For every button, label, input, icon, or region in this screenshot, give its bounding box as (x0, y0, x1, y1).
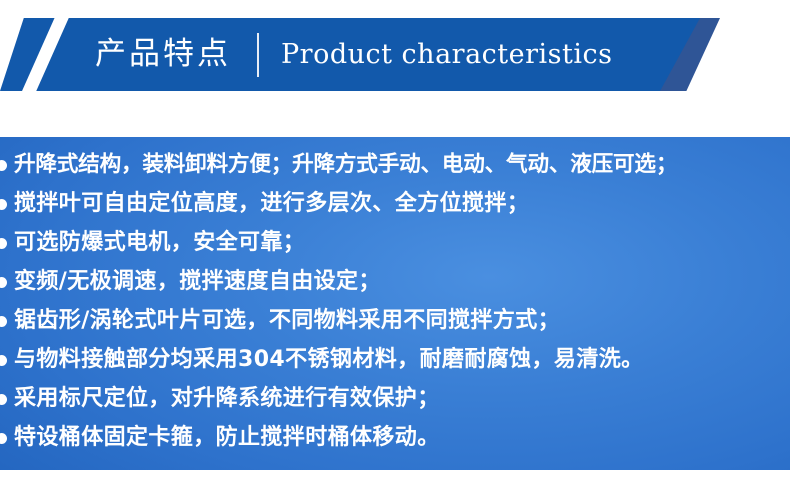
feature-list: 升降式结构，装料卸料方便；升降方式手动、电动、气动、液压可选； 搅拌叶可自由定位… (0, 145, 790, 457)
list-item: 搅拌叶可自由定位高度，进行多层次、全方位搅拌； (0, 184, 790, 223)
banner-title-english: Product characteristics (281, 41, 612, 68)
list-item: 特设桶体固定卡箍，防止搅拌时桶体移动。 (0, 418, 790, 457)
banner-title-chinese: 产品特点 (95, 39, 231, 70)
bullet-icon (0, 238, 7, 249)
list-item: 与物料接触部分均采用304不锈钢材料，耐磨耐腐蚀，易清洗。 (0, 340, 790, 379)
features-panel: 升降式结构，装料卸料方便；升降方式手动、电动、气动、液压可选； 搅拌叶可自由定位… (0, 137, 790, 470)
list-item-label: 搅拌叶可自由定位高度，进行多层次、全方位搅拌； (14, 184, 529, 223)
list-item-label: 特设桶体固定卡箍，防止搅拌时桶体移动。 (14, 418, 440, 457)
list-item-label: 变频/无极调速，搅拌速度自由设定； (14, 262, 381, 301)
bullet-icon (0, 394, 7, 405)
list-item-label: 与物料接触部分均采用304不锈钢材料，耐磨耐腐蚀，易清洗。 (14, 340, 644, 379)
product-characteristics-banner: 产品特点 Product characteristics (0, 0, 790, 112)
banner-title-divider (257, 33, 259, 77)
list-item: 可选防爆式电机，安全可靠； (0, 223, 790, 262)
list-item: 锯齿形/涡轮式叶片可选，不同物料采用不同搅拌方式； (0, 301, 790, 340)
bullet-icon (0, 355, 7, 366)
list-item-label: 采用标尺定位，对升降系统进行有效保护； (14, 379, 440, 418)
bullet-icon (0, 199, 7, 210)
list-item-label: 可选防爆式电机，安全可靠； (14, 223, 305, 262)
list-item: 升降式结构，装料卸料方便；升降方式手动、电动、气动、液压可选； (0, 145, 790, 184)
bullet-icon (0, 433, 7, 444)
bullet-icon (0, 316, 7, 327)
list-item-label: 锯齿形/涡轮式叶片可选，不同物料采用不同搅拌方式； (14, 301, 560, 340)
bullet-icon (0, 160, 7, 171)
bullet-icon (0, 277, 7, 288)
list-item: 变频/无极调速，搅拌速度自由设定； (0, 262, 790, 301)
list-item: 采用标尺定位，对升降系统进行有效保护； (0, 379, 790, 418)
list-item-label: 升降式结构，装料卸料方便；升降方式手动、电动、气动、液压可选； (14, 145, 677, 184)
banner-title-row: 产品特点 Product characteristics (0, 18, 700, 91)
